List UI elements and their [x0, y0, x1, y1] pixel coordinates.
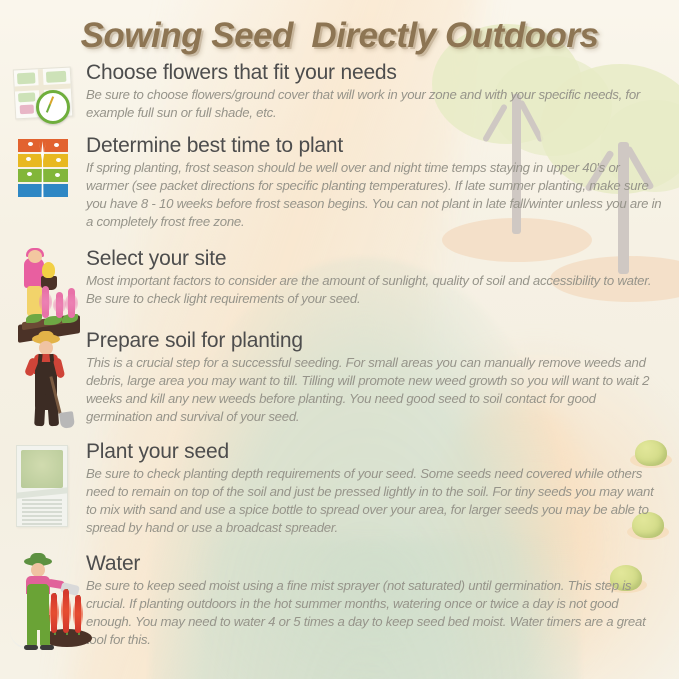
section-heading: Plant your seed — [86, 441, 665, 464]
section-text: Most important factors to consider are t… — [86, 272, 665, 308]
compass-icon — [36, 90, 70, 124]
section-heading: Water — [86, 553, 665, 576]
section-body: Prepare soil for planting This is a cruc… — [86, 330, 671, 425]
section-body: Choose flowers that fit your needs Be su… — [86, 62, 671, 122]
watering-figure-graphic — [10, 553, 94, 653]
section-heading: Determine best time to plant — [86, 135, 665, 158]
section-text: If spring planting, frost season should … — [86, 159, 665, 231]
sections-list: Choose flowers that fit your needs Be su… — [0, 0, 679, 679]
section-heading: Prepare soil for planting — [86, 330, 665, 353]
section-text: Be sure to choose flowers/ground cover t… — [86, 86, 665, 122]
section-text: Be sure to check planting depth requirem… — [86, 465, 665, 537]
section-plant-seed: Plant your seed Be sure to check plantin… — [8, 441, 671, 536]
section-water: Water Be sure to keep seed moist using a… — [8, 553, 671, 648]
section-text: Be sure to keep seed moist using a fine … — [86, 577, 665, 649]
planter-figure-graphic — [12, 248, 84, 343]
season-bars-graphic — [18, 139, 68, 201]
section-body: Plant your seed Be sure to check plantin… — [86, 441, 671, 536]
section-text: This is a crucial step for a successful … — [86, 354, 665, 426]
section-prepare-soil: Prepare soil for planting This is a cruc… — [8, 330, 671, 425]
shovel-figure-graphic — [18, 332, 80, 432]
section-heading: Select your site — [86, 248, 665, 271]
section-select-site: Select your site Most important factors … — [8, 248, 671, 308]
section-determine-time: Determine best time to plant If spring p… — [8, 135, 671, 230]
section-heading: Choose flowers that fit your needs — [86, 62, 665, 85]
infographic-poster: Sowing Seed Directly Outdoors — [0, 0, 679, 679]
seed-packet-graphic — [16, 445, 68, 527]
section-body: Select your site Most important factors … — [86, 248, 671, 308]
section-choose-flowers: Choose flowers that fit your needs Be su… — [8, 62, 671, 122]
section-body: Water Be sure to keep seed moist using a… — [86, 553, 671, 648]
section-body: Determine best time to plant If spring p… — [86, 135, 671, 230]
